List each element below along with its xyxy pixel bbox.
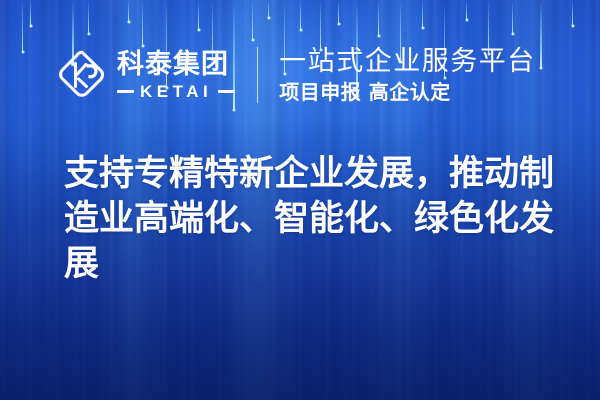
right-dash-icon <box>218 90 235 93</box>
promo-banner: 科泰集团 KETAI 一站式企业服务平台 项目申报 高企认定 支持专精特新企业发… <box>0 0 600 400</box>
brand-name-en: KETAI <box>140 83 212 101</box>
light-streak-dot <box>337 22 341 26</box>
brand-logo-text: 科泰集团 KETAI <box>117 50 235 101</box>
light-streak <box>338 0 339 24</box>
tagline-sub: 项目申报 高企认定 <box>279 80 536 104</box>
light-streak <box>422 0 423 28</box>
brand-logo[interactable]: 科泰集团 KETAI <box>55 48 235 102</box>
light-streak <box>512 0 513 34</box>
light-streak-dot <box>29 24 33 28</box>
light-streak-dot <box>421 26 425 30</box>
light-streak <box>572 0 573 26</box>
light-streak <box>198 0 199 30</box>
banner-header: 科泰集团 KETAI 一站式企业服务平台 项目申报 高企认定 <box>0 38 600 112</box>
ketai-diamond-kp-monogram-icon <box>55 48 109 102</box>
header-divider <box>257 47 258 103</box>
brand-name-cn: 科泰集团 <box>117 50 235 80</box>
light-streak <box>30 0 31 26</box>
light-streak <box>128 0 129 22</box>
light-streak <box>88 0 89 34</box>
brand-name-en-row: KETAI <box>117 83 235 101</box>
tagline-main: 一站式企业服务平台 <box>279 46 536 78</box>
headline-text: 支持专精特新企业发展，推动制造业高端化、智能化、绿色化发展 <box>64 152 564 287</box>
light-streak <box>252 0 253 40</box>
light-streak <box>300 0 301 30</box>
light-streak-dot <box>511 32 515 36</box>
light-streak-dot <box>87 32 91 36</box>
light-streak-dot <box>197 28 201 32</box>
left-dash-icon <box>117 90 134 93</box>
light-streak <box>466 0 467 20</box>
light-streak-dot <box>299 28 303 32</box>
light-streak-dot <box>571 24 575 28</box>
light-streak-dot <box>127 20 131 24</box>
light-streak-dot <box>267 16 271 20</box>
light-streak <box>378 0 379 36</box>
light-streak-dot <box>465 18 469 22</box>
tagline-block: 一站式企业服务平台 项目申报 高企认定 <box>279 46 536 104</box>
